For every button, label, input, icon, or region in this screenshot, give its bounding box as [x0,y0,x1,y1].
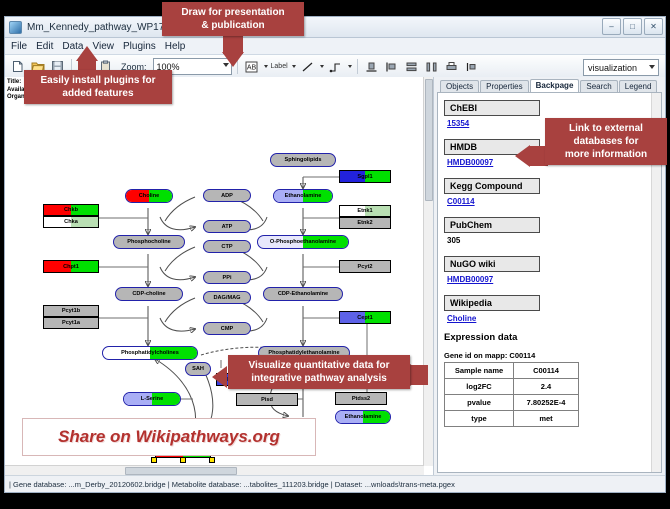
node-label: Chka [62,219,80,225]
table-row: pvalue 7.80252E-4 [445,395,579,411]
chevron-down-icon-connector-tool[interactable] [348,65,352,68]
node-label: SAH [190,366,206,372]
node-sphingolipids[interactable]: Sphingolipids [270,153,336,167]
close-button[interactable]: ✕ [644,18,663,35]
expr-val-pvalue: 7.80252E-4 [514,395,579,411]
print-icon[interactable] [443,58,460,75]
tab-properties[interactable]: Properties [480,80,528,92]
node-label: DAG/MAG [211,295,242,301]
node-label: Pcyt1b [60,308,82,314]
callout-plugins-arrow [76,46,98,61]
node-label: Etnk2 [355,220,374,226]
node-label: CDP-choline [130,291,167,297]
node-chka[interactable]: Chka [43,216,99,228]
window-controls: – □ ✕ [602,18,663,35]
gene-id-line: Gene id on mapp: C00114 [444,351,649,360]
node-label: Etnk1 [355,208,374,214]
node-ethanolamine-bottom[interactable]: Ethanolamine [335,410,391,424]
db-value-pubchem: 305 [447,236,649,245]
node-label: Chpt1 [61,264,81,270]
callout-visualize-line2: integrative pathway analysis [235,372,403,385]
expr-key-type: type [445,411,514,427]
node-ethanolamine-top[interactable]: Ethanolamine [273,189,333,203]
callout-visualize-arrow-left [212,366,227,388]
callout-plugins-line2: added features [31,87,165,100]
scrollbar-thumb[interactable] [125,467,237,475]
db-header-nugo-wiki: NuGO wiki [444,256,540,272]
node-ppi[interactable]: PPi [203,271,251,284]
connector-tool-icon[interactable] [327,58,344,75]
selection-handle-se[interactable] [209,457,215,463]
tab-backpage[interactable]: Backpage [530,79,580,92]
callout-visualize: Visualize quantitative data for integrat… [228,355,410,389]
expr-val-sample-name: C00114 [514,363,579,379]
node-label: CDP-Ethanolamine [276,291,330,297]
callout-draw-arrow [222,52,244,67]
share-wikipathways-banner: Share on Wikipathways.org [22,418,316,456]
node-label: ATP [220,224,235,230]
node-cdp-ethanolamine[interactable]: CDP-Ethanolamine [263,287,343,301]
toolbar-separator-3 [357,59,358,74]
node-sah[interactable]: SAH [185,362,211,376]
app-logo-icon [9,21,22,34]
visualization-select[interactable]: visualization [583,59,659,76]
node-ctp[interactable]: CTP [203,240,251,253]
minimize-button[interactable]: – [602,18,621,35]
table-row: Sample name C00114 [445,363,579,379]
status-bar-text: | Gene database: ...m_Derby_20120602.bri… [9,480,455,489]
canvas-vertical-scrollbar[interactable] [423,77,433,466]
node-label: Choline [137,193,162,199]
expr-key-sample-name: Sample name [445,363,514,379]
group-icon[interactable] [463,58,480,75]
callout-draw-line2: & publication [169,19,297,32]
node-choline-top[interactable]: Choline [125,189,173,203]
label-tool-label[interactable]: Label [271,63,288,70]
node-label: Ptdss2 [350,396,372,402]
node-label: PPi [220,275,233,281]
callout-link-line3: more information [552,148,660,161]
node-label: CMP [219,326,235,332]
callout-plugins: Easily install plugins for added feature… [24,70,172,104]
node-atp[interactable]: ATP [203,220,251,233]
selection-handle-sw[interactable] [151,457,157,463]
chevron-down-icon-line-tool[interactable] [320,65,324,68]
node-chpt1[interactable]: Chpt1 [43,260,99,273]
chevron-down-icon-text-tool[interactable] [264,65,268,68]
callout-plugins-line1: Easily install plugins for [31,74,165,87]
node-label: Pcyt1a [60,320,82,326]
node-label: Sphingolipids [283,157,324,163]
callout-link-databases: Link to external databases for more info… [545,118,667,165]
line-tool-icon[interactable] [299,58,316,75]
node-etnk2[interactable]: Etnk2 [339,217,391,229]
expression-data-title: Expression data [444,332,649,343]
node-cmp[interactable]: CMP [203,322,251,335]
distribute-icon[interactable] [403,58,420,75]
node-phosphatidylcholines[interactable]: Phosphatidylcholines [102,346,198,360]
node-pcyt1a[interactable]: Pcyt1a [43,317,99,329]
node-label: Pcyt2 [356,264,375,270]
db-link-wikipedia[interactable]: Choline [447,314,649,323]
node-label: Cept1 [355,315,375,321]
share-wikipathways-text: Share on Wikipathways.org [58,427,280,447]
node-label: CTP [219,244,234,250]
pathway-canvas[interactable]: Title: Availa Organ [5,77,434,475]
db-link-nugo-wiki[interactable]: HMDB00097 [447,275,649,284]
menu-item-file[interactable]: File [11,41,27,52]
callout-visualize-line1: Visualize quantitative data for [235,359,403,372]
side-panel-tabs: Objects Properties Backpage Search Legen… [434,77,665,92]
align-left-icon[interactable] [383,58,400,75]
menu-item-edit[interactable]: Edit [36,41,53,52]
node-pcyt1b[interactable]: Pcyt1b [43,305,99,317]
window-titlebar: Mm_Kennedy_pathway_WP1771_45176.gpml – □… [5,17,665,38]
db-link-kegg-compound[interactable]: C00114 [447,197,649,206]
expr-val-type: met [514,411,579,427]
db-header-pubchem: PubChem [444,217,540,233]
expr-val-log2fc: 2.4 [514,379,579,395]
callout-link-line2: databases for [552,135,660,148]
callout-visualize-arrow [410,364,425,386]
callout-draw-line1: Draw for presentation [169,6,297,19]
node-pcyt2[interactable]: Pcyt2 [339,260,391,273]
node-lserine-left[interactable]: L-Serine [123,392,181,406]
expr-key-pvalue: pvalue [445,395,514,411]
node-label: Phosphatidylcholines [119,350,181,356]
stack-icon[interactable] [423,58,440,75]
node-etnk1[interactable]: Etnk1 [339,205,391,217]
tab-objects[interactable]: Objects [440,80,479,92]
menu-item-plugins[interactable]: Plugins [123,41,156,52]
chevron-down-icon-label-tool[interactable] [292,65,296,68]
tab-legend[interactable]: Legend [619,80,658,92]
node-label: O-Phosphoethanolamine [268,239,338,245]
selection-handle-s[interactable] [180,457,186,463]
callout-link-arrow [515,145,530,167]
node-ptdss2[interactable]: Ptdss2 [335,392,387,405]
tab-search[interactable]: Search [580,80,617,92]
callout-draw: Draw for presentation & publication [162,2,304,36]
node-pisd[interactable]: Pisd [236,393,298,406]
db-header-wikipedia: Wikipedia [444,295,540,311]
node-cept1[interactable]: Cept1 [339,311,391,324]
node-adp[interactable]: ADP [203,189,251,202]
text-tool-icon[interactable]: AB [243,58,260,75]
node-sgpl1[interactable]: Sgpl1 [339,170,391,183]
expression-table: Sample name C00114 log2FC 2.4 pvalue 7.8… [444,362,579,427]
node-label: Sgpl1 [355,174,374,180]
node-label: ADP [219,193,235,199]
node-label: Chkb [62,207,80,213]
status-bar: | Gene database: ...m_Derby_20120602.bri… [5,475,665,492]
db-header-kegg-compound: Kegg Compound [444,178,540,194]
node-label: Ethanolamine [283,193,324,199]
scrollbar-thumb[interactable] [425,79,433,201]
canvas-horizontal-scrollbar[interactable] [5,465,424,475]
node-phosphocholine[interactable]: Phosphocholine [113,235,185,249]
menu-item-help[interactable]: Help [165,41,186,52]
node-label: Ethanolamine [343,414,384,420]
node-cdp-choline[interactable]: CDP-choline [115,287,183,301]
menubar: File Edit Data View Plugins Help [5,38,665,55]
align-bottom-icon[interactable] [363,58,380,75]
node-label: L-Serine [139,396,165,402]
svg-text:AB: AB [246,64,256,71]
node-o-phosphoethanolamine[interactable]: O-Phosphoethanolamine [257,235,349,249]
table-row: type met [445,411,579,427]
table-row: log2FC 2.4 [445,379,579,395]
expr-key-log2fc: log2FC [445,379,514,395]
chevron-down-icon-visualization [649,65,655,69]
node-chkb[interactable]: Chkb [43,204,99,216]
node-label: Phosphocholine [125,239,173,245]
db-header-chebi: ChEBI [444,100,540,116]
node-label: Pisd [259,397,275,403]
visualization-value: visualization [588,63,637,73]
callout-link-line1: Link to external [552,122,660,135]
node-dagmag[interactable]: DAG/MAG [203,291,251,304]
screenshot-root: Mm_Kennedy_pathway_WP1771_45176.gpml – □… [0,0,670,509]
maximize-button[interactable]: □ [623,18,642,35]
